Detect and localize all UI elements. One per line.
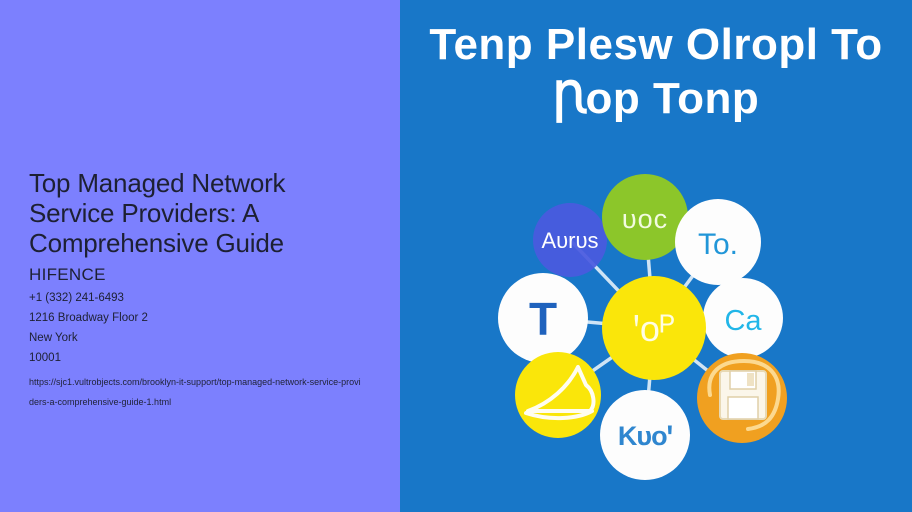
page-title: Top Managed Network Service Providers: A… [29,168,374,258]
diagram-node-ca[interactable]: Ca [703,278,783,358]
diagram-node-aurus-label: Aᴜrᴜs [541,228,598,253]
diagram-node-floppy[interactable] [697,353,787,443]
slide-canvas: Top Managed Network Service Providers: A… [0,0,912,512]
diagram-node-to-label: To. [698,228,738,261]
diagram-hub[interactable]: ꞌoᴾ [602,276,706,380]
diagram-node-kgon-label: Kᴜoꞌ [618,421,673,451]
address-street: 1216 Broadway Floor 2 [29,308,374,328]
diagram-node-cqc-label: ᴜoc [622,204,668,234]
hub-and-spoke-diagram: Aᴜrᴜs ᴜoc To. Ca [400,155,912,512]
brand-name: HIFENCE [29,264,374,285]
diagram-node-t-label: T [529,293,557,345]
diagram-node-kgon[interactable]: Kᴜoꞌ [600,390,690,480]
hero-heading: Tenp Plesw Olropl To Ꞃop Tonp [400,18,912,126]
document-url[interactable]: https://sjc1.vultrobjects.com/brooklyn-i… [29,372,365,412]
hero-heading-line-1: Tenp Plesw Olropl To [429,20,882,69]
diagram-node-to[interactable]: To. [675,199,761,285]
right-visual-panel: Tenp Plesw Olropl To Ꞃop Tonp [400,0,912,512]
address-zip: 10001 [29,348,374,368]
diagram-hub-label: ꞌoᴾ [633,308,675,349]
document-meta-block: Top Managed Network Service Providers: A… [29,168,374,412]
diagram-node-ca-label: Ca [724,305,762,337]
left-info-panel: Top Managed Network Service Providers: A… [0,0,400,512]
diagram-node-t[interactable]: T [498,273,588,363]
diagram-node-swoosh[interactable] [515,352,601,438]
address-city: New York [29,328,374,348]
diagram-node-cqc[interactable]: ᴜoc [602,174,688,260]
diagram-node-aurus[interactable]: Aᴜrᴜs [533,203,607,277]
phone-number: +1 (332) 241-6493 [29,288,374,308]
hero-heading-line-2: Ꞃop Tonp [400,72,912,126]
